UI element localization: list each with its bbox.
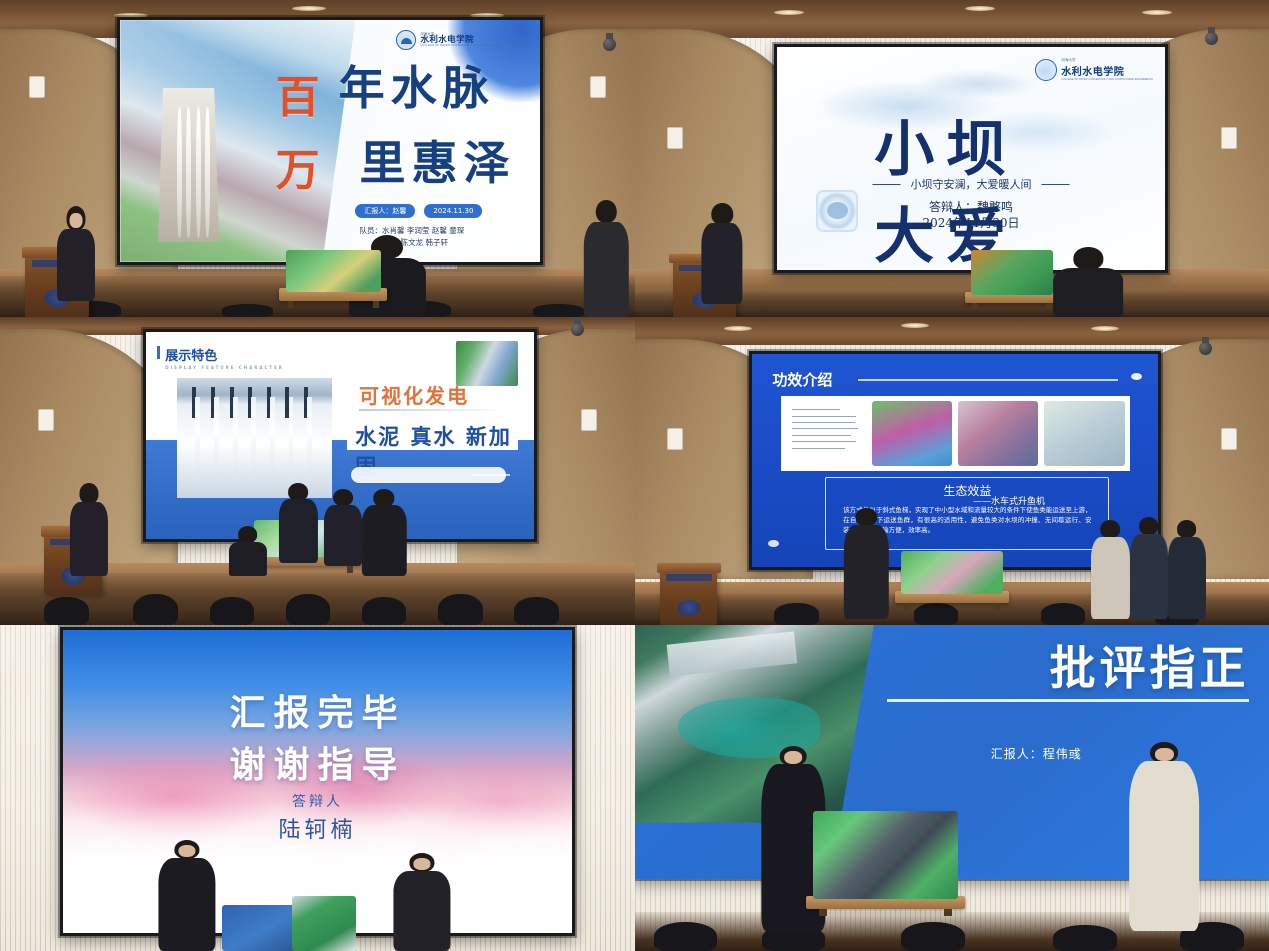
collage-panel-1: 河海大学 水利水电学院 COLLEGE OF WATER CONSERVANCY… [0,0,635,317]
audience-head [514,597,558,625]
audience-head [1041,603,1085,625]
dam-gate [289,397,294,481]
photographer-person-2 [1053,247,1123,317]
presenter-person-3 [70,483,108,575]
divider-line-right [1042,184,1070,186]
slide4-header: 功效介绍 [772,369,832,390]
podium-crest-icon [677,600,700,616]
person-body [229,542,267,576]
project-model-5b [292,896,356,951]
date-pill: 2024.11.30 [424,204,482,218]
audience-head [654,922,717,951]
college-logo-2: 河海大学 水利水电学院 COLLEGE OF WATER CONSERVANCY… [1035,58,1153,81]
presentation-screen-5: 汇报完毕 谢谢指导 答辩人 陆轲楠 [60,627,574,937]
text-line [792,416,856,417]
slide6-title: 批评指正 [1049,632,1249,698]
university-seal-icon [816,190,858,232]
slide3-orange-highlight: 可视化发电 [359,380,469,409]
person-head [856,508,877,526]
text-line [792,435,851,436]
security-camera-icon [1199,342,1212,355]
dam-gate [307,397,312,481]
project-model-5a [222,905,298,951]
audience-head [901,922,964,951]
audience-head [210,597,254,625]
person-body [1091,537,1129,619]
audience-head [286,594,330,625]
person-body [70,502,108,576]
person-body [844,525,888,619]
wall-speaker-icon [667,127,683,149]
text-line [792,428,858,429]
slide2-subtitle-row: 小坝守安澜，大爱暖人间 [873,176,1070,192]
slide1-title-line-2: 里惠泽 [360,127,516,193]
divider-line-left [873,184,901,186]
student-person-4b [1130,517,1168,619]
slide2-subtitle: 小坝守安澜，大爱暖人间 [911,176,1032,192]
presenter-person-1 [57,206,95,301]
person-body [1053,268,1123,317]
slide1-title-line-1: 年水脉 [339,52,495,118]
dam-gate [195,397,200,481]
student-person-5 [394,853,451,951]
person-body [1168,537,1206,619]
spillway-jet [177,107,182,237]
person-body [702,223,743,304]
slide6-underline [887,699,1249,702]
ceiling-light-icon [1142,10,1172,15]
person-face [70,213,83,228]
dam-gate [251,397,256,481]
student-person-3a [279,483,317,563]
student-person-6 [1130,742,1200,931]
text-line [792,448,845,449]
presenter-pill: 汇报人：赵馨 [355,204,415,218]
wall-speaker-icon [1221,428,1237,450]
person-head [1074,247,1103,269]
person-body [279,499,317,563]
slide5-name: 陆轲楠 [278,812,356,844]
person-face [1155,748,1173,761]
person-head [238,526,258,543]
slide-2: 河海大学 水利水电学院 COLLEGE OF WATER CONSERVANCY… [777,47,1164,269]
audience-head [222,304,273,317]
person-head [711,203,732,225]
project-model-1 [286,250,381,291]
person-body [1130,761,1200,931]
student-person-4c [1168,520,1206,619]
header-accent-bar [157,346,160,359]
project-model-4 [901,551,1002,594]
slide1-title-char-2: 万 [276,134,320,198]
security-camera-icon [603,38,616,51]
presenter-person-2 [702,203,743,304]
slide3-divider [359,409,506,411]
person-head [1177,520,1197,538]
collage-panel-4: 功效介绍 [635,317,1269,625]
person-face [179,845,196,857]
person-head [1101,520,1121,538]
slide1-title-char-1: 百 [276,61,320,125]
presenter-person-5 [159,840,216,951]
audience-head [44,597,88,625]
gallery-image-components [958,401,1038,465]
person-face [414,858,431,870]
person-body [159,858,216,951]
ceiling-2 [635,0,1269,38]
slide4-corner-dot-bl [768,540,779,547]
slide5-line-2: 谢谢指导 [229,736,405,788]
slide4-image-gallery [781,396,1130,470]
project-model-2 [971,250,1053,294]
college-logo-1: 河海大学 水利水电学院 COLLEGE OF WATER CONSERVANCY… [396,30,523,50]
person-body [57,229,95,301]
person-body [362,505,406,576]
presentation-screen-1: 河海大学 水利水电学院 COLLEGE OF WATER CONSERVANCY… [117,17,542,264]
collage-panel-2: 河海大学 水利水电学院 COLLEGE OF WATER CONSERVANCY… [635,0,1269,317]
slide-1: 河海大学 水利水电学院 COLLEGE OF WATER CONSERVANCY… [120,20,539,261]
water-wave-logo-icon [396,30,416,50]
spillway-jet [196,107,201,237]
wall-speaker-icon [29,76,45,98]
slide4-corner-dot-tr [1131,373,1142,380]
wall-speaker-icon [667,428,683,450]
gallery-image-diagram [1044,401,1124,465]
slide4-header-rule [858,379,1118,381]
audience-head [914,603,958,625]
person-head [596,200,616,223]
aerial-dam-photo [635,625,874,823]
person-body [394,871,451,951]
gallery-text-cell [786,401,866,465]
water-wave-logo-icon [1035,59,1057,81]
slide5-line-1: 汇报完毕 [229,684,405,736]
slide1-meta-pills: 汇报人：赵馨 2024.11.30 [355,204,482,218]
wall-speaker-icon [590,76,606,98]
dam-gate [214,397,219,481]
logo-college-name: 水利水电学院 [1061,63,1153,78]
collage-panel-6: 批评指正 汇报人：程伟彧 [635,625,1269,951]
person-head [333,489,353,506]
person-face [785,751,803,764]
security-camera-icon [1205,32,1218,45]
person-body [324,505,362,567]
dam-gate [233,397,238,481]
person-head [1139,517,1159,535]
dam-gate [270,397,275,481]
student-person-3c [362,489,406,575]
audience-head [533,304,584,317]
slide-5: 汇报完毕 谢谢指导 答辩人 陆轲楠 [63,630,571,934]
seated-person-3 [229,526,267,575]
slide3-header-en: DISPLAY FEATURE CHARACTER [165,365,284,370]
spillway-jet [205,107,210,237]
slide3-header-text: 展示特色 [165,349,217,364]
audience-head [438,594,482,625]
audience-head [774,603,818,625]
slide2-presenter: 答辩人：魏憨鸣 [929,198,1013,215]
wall-speaker-icon [38,409,54,431]
presenter-person-4 [844,508,888,619]
student-person-3b [324,489,362,566]
slide3-search-bar [351,467,506,484]
audience-head [362,597,406,625]
logo-english-name: COLLEGE OF WATER CONSERVANCY AND HYDROPO… [420,45,523,48]
text-line [792,422,855,423]
collage-panel-5: 汇报完毕 谢谢指导 答辩人 陆轲楠 [0,625,635,951]
slide2-date: 2024年11月30日 [922,214,1019,231]
slide5-role: 答辩人 [292,791,343,811]
slide6-presenter: 汇报人：程伟彧 [991,745,1082,762]
podium-nameplate [666,574,712,580]
gallery-image-fish-ladder [872,401,952,465]
dam-crest [667,631,797,676]
slide3-header: 展示特色 DISPLAY FEATURE CHARACTER [165,345,284,370]
person-body [584,222,628,317]
audience-head [1053,925,1116,951]
wall-speaker-icon [581,409,597,431]
student-person-4a [1091,520,1129,619]
collage-panel-3: 展示特色 DISPLAY FEATURE CHARACTER [0,317,635,625]
text-line [792,409,840,410]
dam-photo-background [120,20,355,261]
slide3-dam-photo [177,378,332,498]
standing-person-1 [584,200,628,317]
ceiling-light-icon [774,10,804,15]
audience-head [133,594,177,625]
photo-collage: 河海大学 水利水电学院 COLLEGE OF WATER CONSERVANCY… [0,0,1269,951]
wall-speaker-icon [1221,127,1237,149]
logo-english-name: COLLEGE OF WATER CONSERVANCY AND HYDROPO… [1061,78,1153,81]
project-model-6 [813,811,959,899]
presentation-screen-2: 河海大学 水利水电学院 COLLEGE OF WATER CONSERVANCY… [774,44,1167,272]
person-head [79,483,98,503]
person-head [289,483,309,501]
text-line [792,441,856,442]
podium-4 [660,563,717,625]
person-body [1130,534,1168,618]
ceiling-4 [635,317,1269,345]
